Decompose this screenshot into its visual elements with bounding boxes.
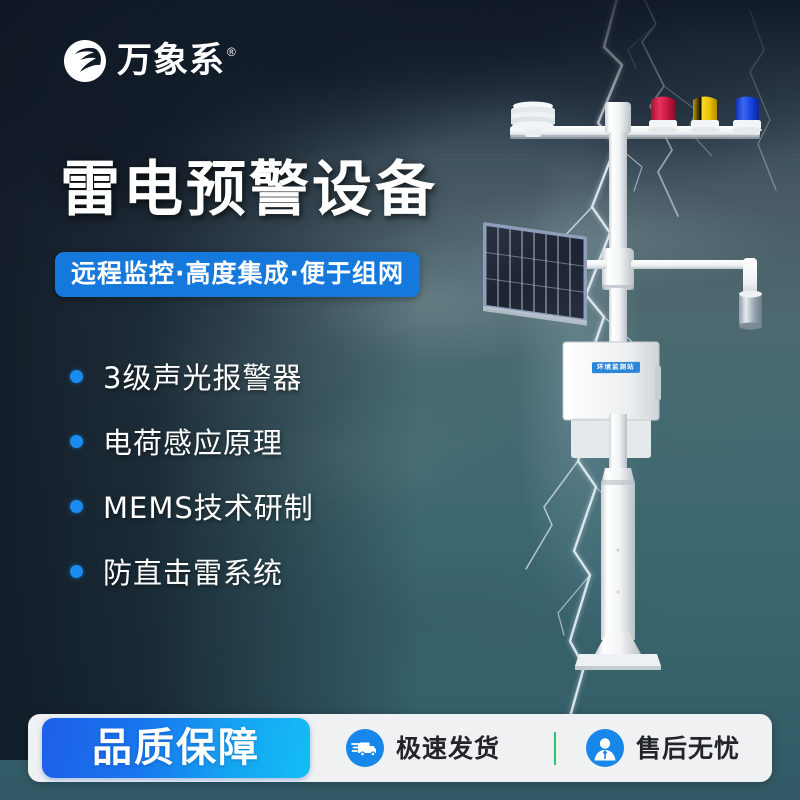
quality-guarantee-label: 品质保障 (92, 728, 260, 768)
swirl-globe-logo-icon (62, 38, 108, 84)
alarm-beacon-blue (732, 97, 762, 134)
brand-name: 万象系 (117, 44, 225, 79)
feature-label: 防直击雷系统 (103, 550, 283, 592)
control-box-label: 环境监测站 (592, 362, 640, 373)
feature-label: MEMS技术研制 (103, 485, 314, 527)
mast-upper (609, 132, 627, 254)
delivery-truck-icon (346, 729, 384, 767)
mast-top-collar (605, 102, 631, 134)
bottom-service-bar: 品质保障 极速发货 (28, 714, 772, 782)
feature-item: 3级声光报警器 (70, 345, 314, 407)
service-label: 售后无忧 (636, 736, 740, 761)
mast-mid-hub (602, 248, 634, 290)
page-title: 雷电预警设备 (60, 158, 438, 223)
base-plate (575, 632, 661, 670)
brand-logo: 万象系 ® (62, 38, 236, 84)
alarm-beacon-yellow (690, 97, 720, 134)
mast-pole-lower (601, 468, 635, 640)
feature-item: MEMS技术研制 (70, 475, 314, 537)
service-divider (554, 732, 556, 765)
customer-service-icon (586, 729, 624, 767)
subtitle-badge: 远程监控·高度集成·便于组网 (55, 252, 420, 297)
product-illustration: 环境监测站 (455, 80, 800, 705)
poster-canvas: 环境监测站 万象系 ® 雷电预警设备 远程监控·高度集成·便于组网 3级声光报警… (0, 0, 800, 800)
feature-list: 3级声光报警器 电荷感应原理 MEMS技术研制 防直击雷系统 (70, 345, 314, 605)
feature-item: 防直击雷系统 (70, 540, 314, 602)
service-label: 极速发货 (396, 736, 500, 761)
bullet-dot-icon (70, 500, 83, 513)
feature-label: 3级声光报警器 (103, 355, 302, 397)
solar-panel (483, 222, 587, 326)
sensor-arm (631, 258, 757, 300)
service-fast-shipping[interactable]: 极速发货 (346, 729, 500, 767)
feature-label: 电荷感应原理 (103, 420, 283, 462)
bullet-dot-icon (70, 370, 83, 383)
bullet-dot-icon (70, 565, 83, 578)
alarm-beacon-red (648, 97, 678, 134)
feature-item: 电荷感应原理 (70, 410, 314, 472)
cylindrical-sensor (739, 291, 762, 330)
bullet-dot-icon (70, 435, 83, 448)
service-after-sales[interactable]: 售后无忧 (586, 729, 740, 767)
mast-lower-upper (609, 414, 627, 470)
registered-trademark-icon: ® (227, 46, 236, 58)
quality-guarantee-badge[interactable]: 品质保障 (42, 718, 310, 778)
